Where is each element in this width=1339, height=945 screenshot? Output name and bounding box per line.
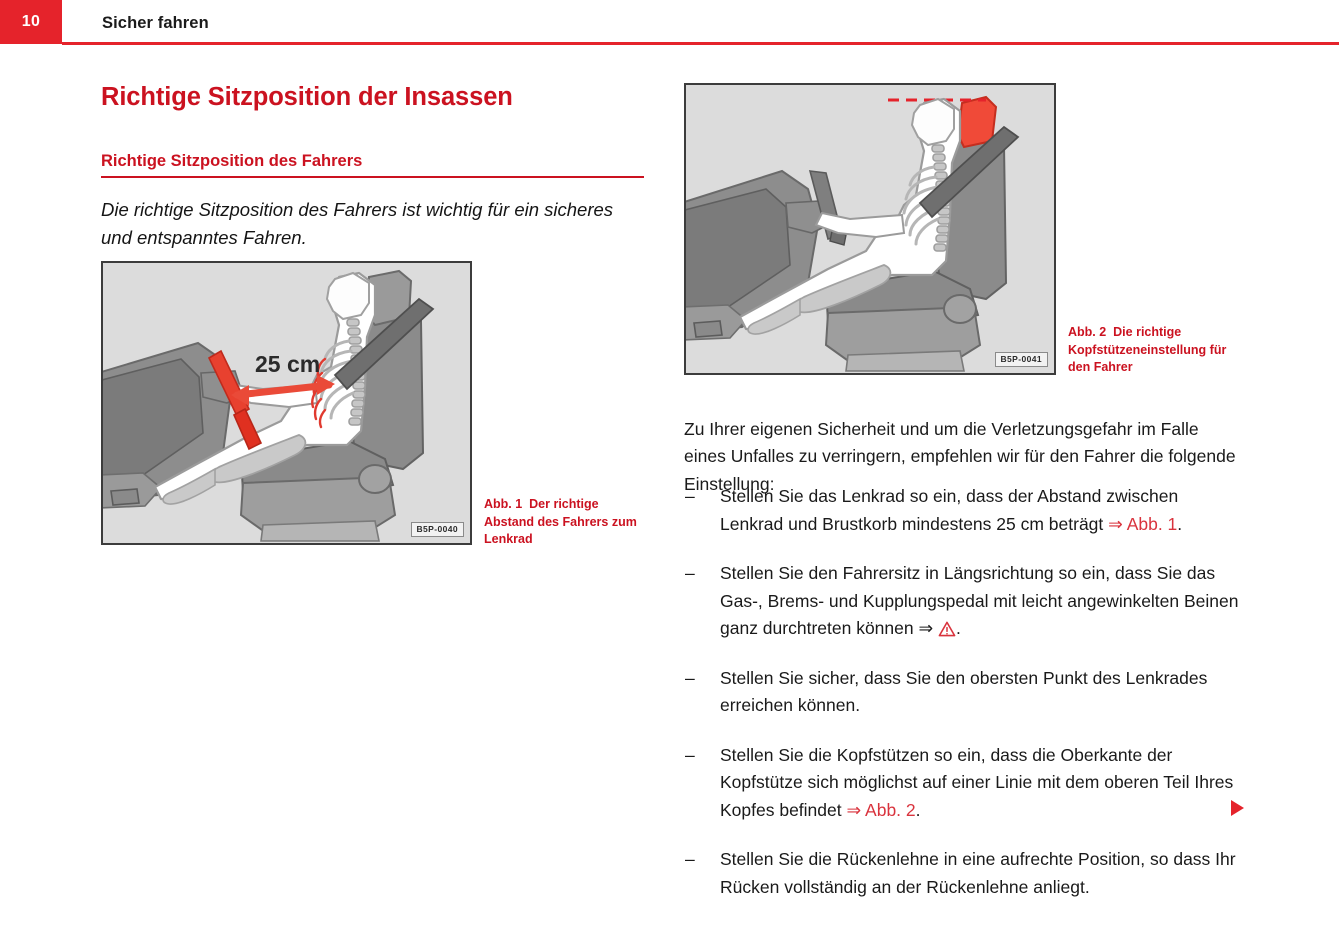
continuation-triangle-icon (1231, 800, 1244, 816)
list-item: –Stellen Sie die Rückenlehne in eine auf… (684, 846, 1244, 901)
chapter-title: Sicher fahren (102, 0, 209, 44)
bullet-text-tail: . (956, 618, 961, 638)
page-number: 10 (0, 0, 62, 44)
bullet-dash: – (685, 560, 695, 588)
bullet-dash: – (685, 483, 695, 511)
list-item: –Stellen Sie das Lenkrad so ein, dass de… (684, 483, 1244, 538)
bullet-dash: – (685, 742, 695, 770)
warning-triangle-icon[interactable] (938, 618, 956, 634)
page-title: Richtige Sitzposition der Insassen (101, 82, 661, 112)
figure-2-illustration (686, 85, 1054, 373)
subsection-block: Richtige Sitzposition des Fahrers (101, 151, 661, 178)
figure-1-caption-label: Abb. 1 (484, 497, 522, 511)
left-column: Richtige Sitzposition der Insassen Richt… (101, 82, 661, 271)
intro-italic-text: Die richtige Sitzposition des Fahrers is… (101, 196, 649, 252)
page-header: 10 Sicher fahren (0, 0, 1339, 44)
bullet-text-tail: . (916, 800, 921, 820)
figure-1: 25 cm B5P-0040 (101, 261, 472, 545)
figure-2-image-code: B5P-0041 (995, 352, 1048, 367)
figure-1-caption: Abb. 1 Der richtige Abstand des Fahrers … (484, 496, 649, 549)
bullet-text: Stellen Sie die Rückenlehne in eine aufr… (720, 849, 1236, 897)
instruction-list: –Stellen Sie das Lenkrad so ein, dass de… (684, 483, 1244, 923)
figure-2-caption-label: Abb. 2 (1068, 325, 1106, 339)
bullet-text: Stellen Sie die Kopfstützen so ein, dass… (720, 745, 1233, 820)
figure-1-illustration: 25 cm (103, 263, 470, 543)
bullet-dash: – (685, 665, 695, 693)
bullet-dash: – (685, 846, 695, 874)
subsection-title: Richtige Sitzposition des Fahrers (101, 151, 661, 176)
list-item: –Stellen Sie den Fahrersitz in Längsrich… (684, 560, 1244, 643)
list-item: –Stellen Sie die Kopfstützen so ein, das… (684, 742, 1244, 825)
header-rule (62, 42, 1339, 45)
cross-reference-link[interactable]: ⇒ Abb. 2 (846, 800, 915, 820)
bullet-text-tail: . (1177, 514, 1182, 534)
figure-2-caption: Abb. 2 Die richtige Kopfstützeneinstellu… (1068, 324, 1233, 377)
measurement-label: 25 cm (255, 351, 320, 377)
list-item: –Stellen Sie sicher, dass Sie den oberst… (684, 665, 1244, 720)
bullet-text: Stellen Sie sicher, dass Sie den oberste… (720, 668, 1207, 716)
bullet-text: Stellen Sie den Fahrersitz in Längsricht… (720, 563, 1239, 638)
figure-1-image-code: B5P-0040 (411, 522, 464, 537)
subsection-rule (101, 176, 644, 178)
cross-reference-link[interactable]: ⇒ Abb. 1 (1108, 514, 1177, 534)
figure-2: B5P-0041 (684, 83, 1056, 375)
